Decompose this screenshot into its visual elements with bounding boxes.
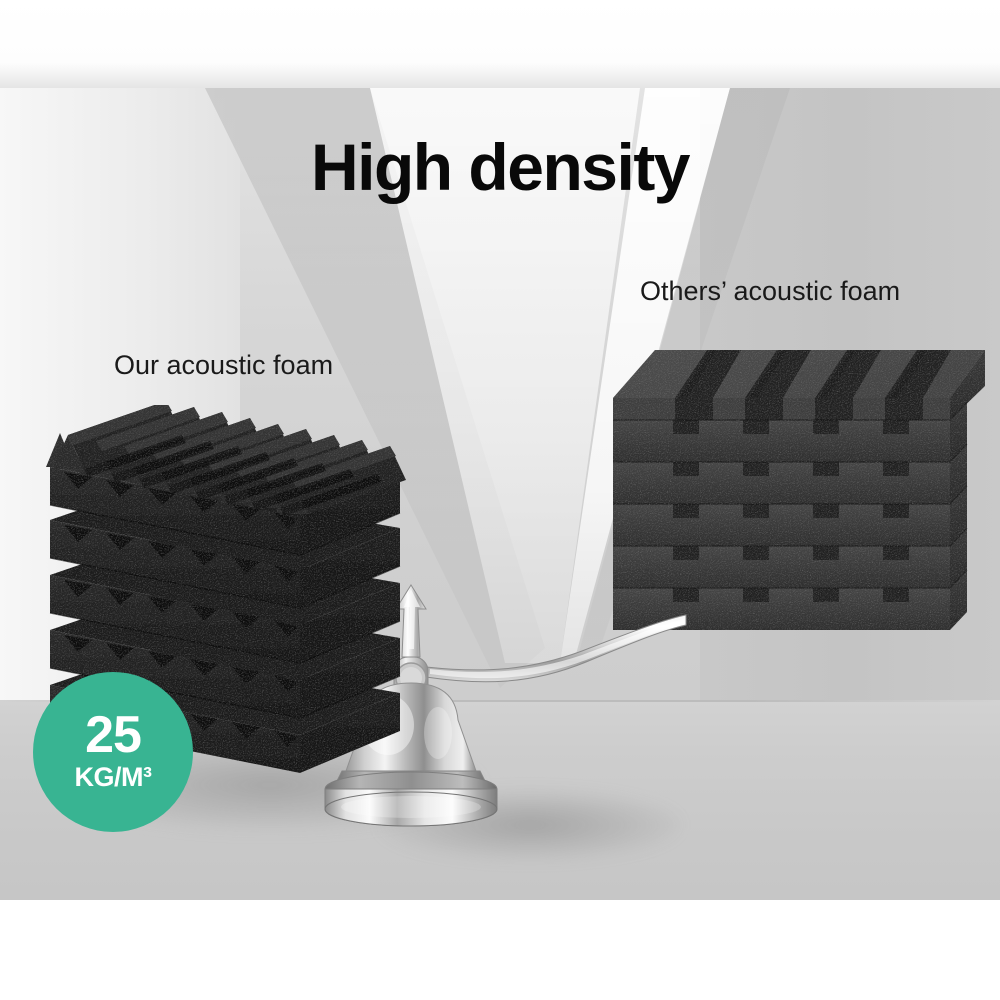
density-badge-value: 25 — [85, 711, 141, 760]
density-badge-unit: KG/M³ — [75, 763, 152, 793]
bottom-white-band — [0, 900, 1000, 1000]
page-title: High density — [0, 133, 1000, 202]
density-badge: 25 KG/M³ — [33, 672, 193, 832]
label-others-foam: Others’ acoustic foam — [640, 276, 900, 307]
product-banner: High density Our acoustic foam Others’ a… — [0, 0, 1000, 1000]
label-our-foam: Our acoustic foam — [114, 350, 333, 381]
